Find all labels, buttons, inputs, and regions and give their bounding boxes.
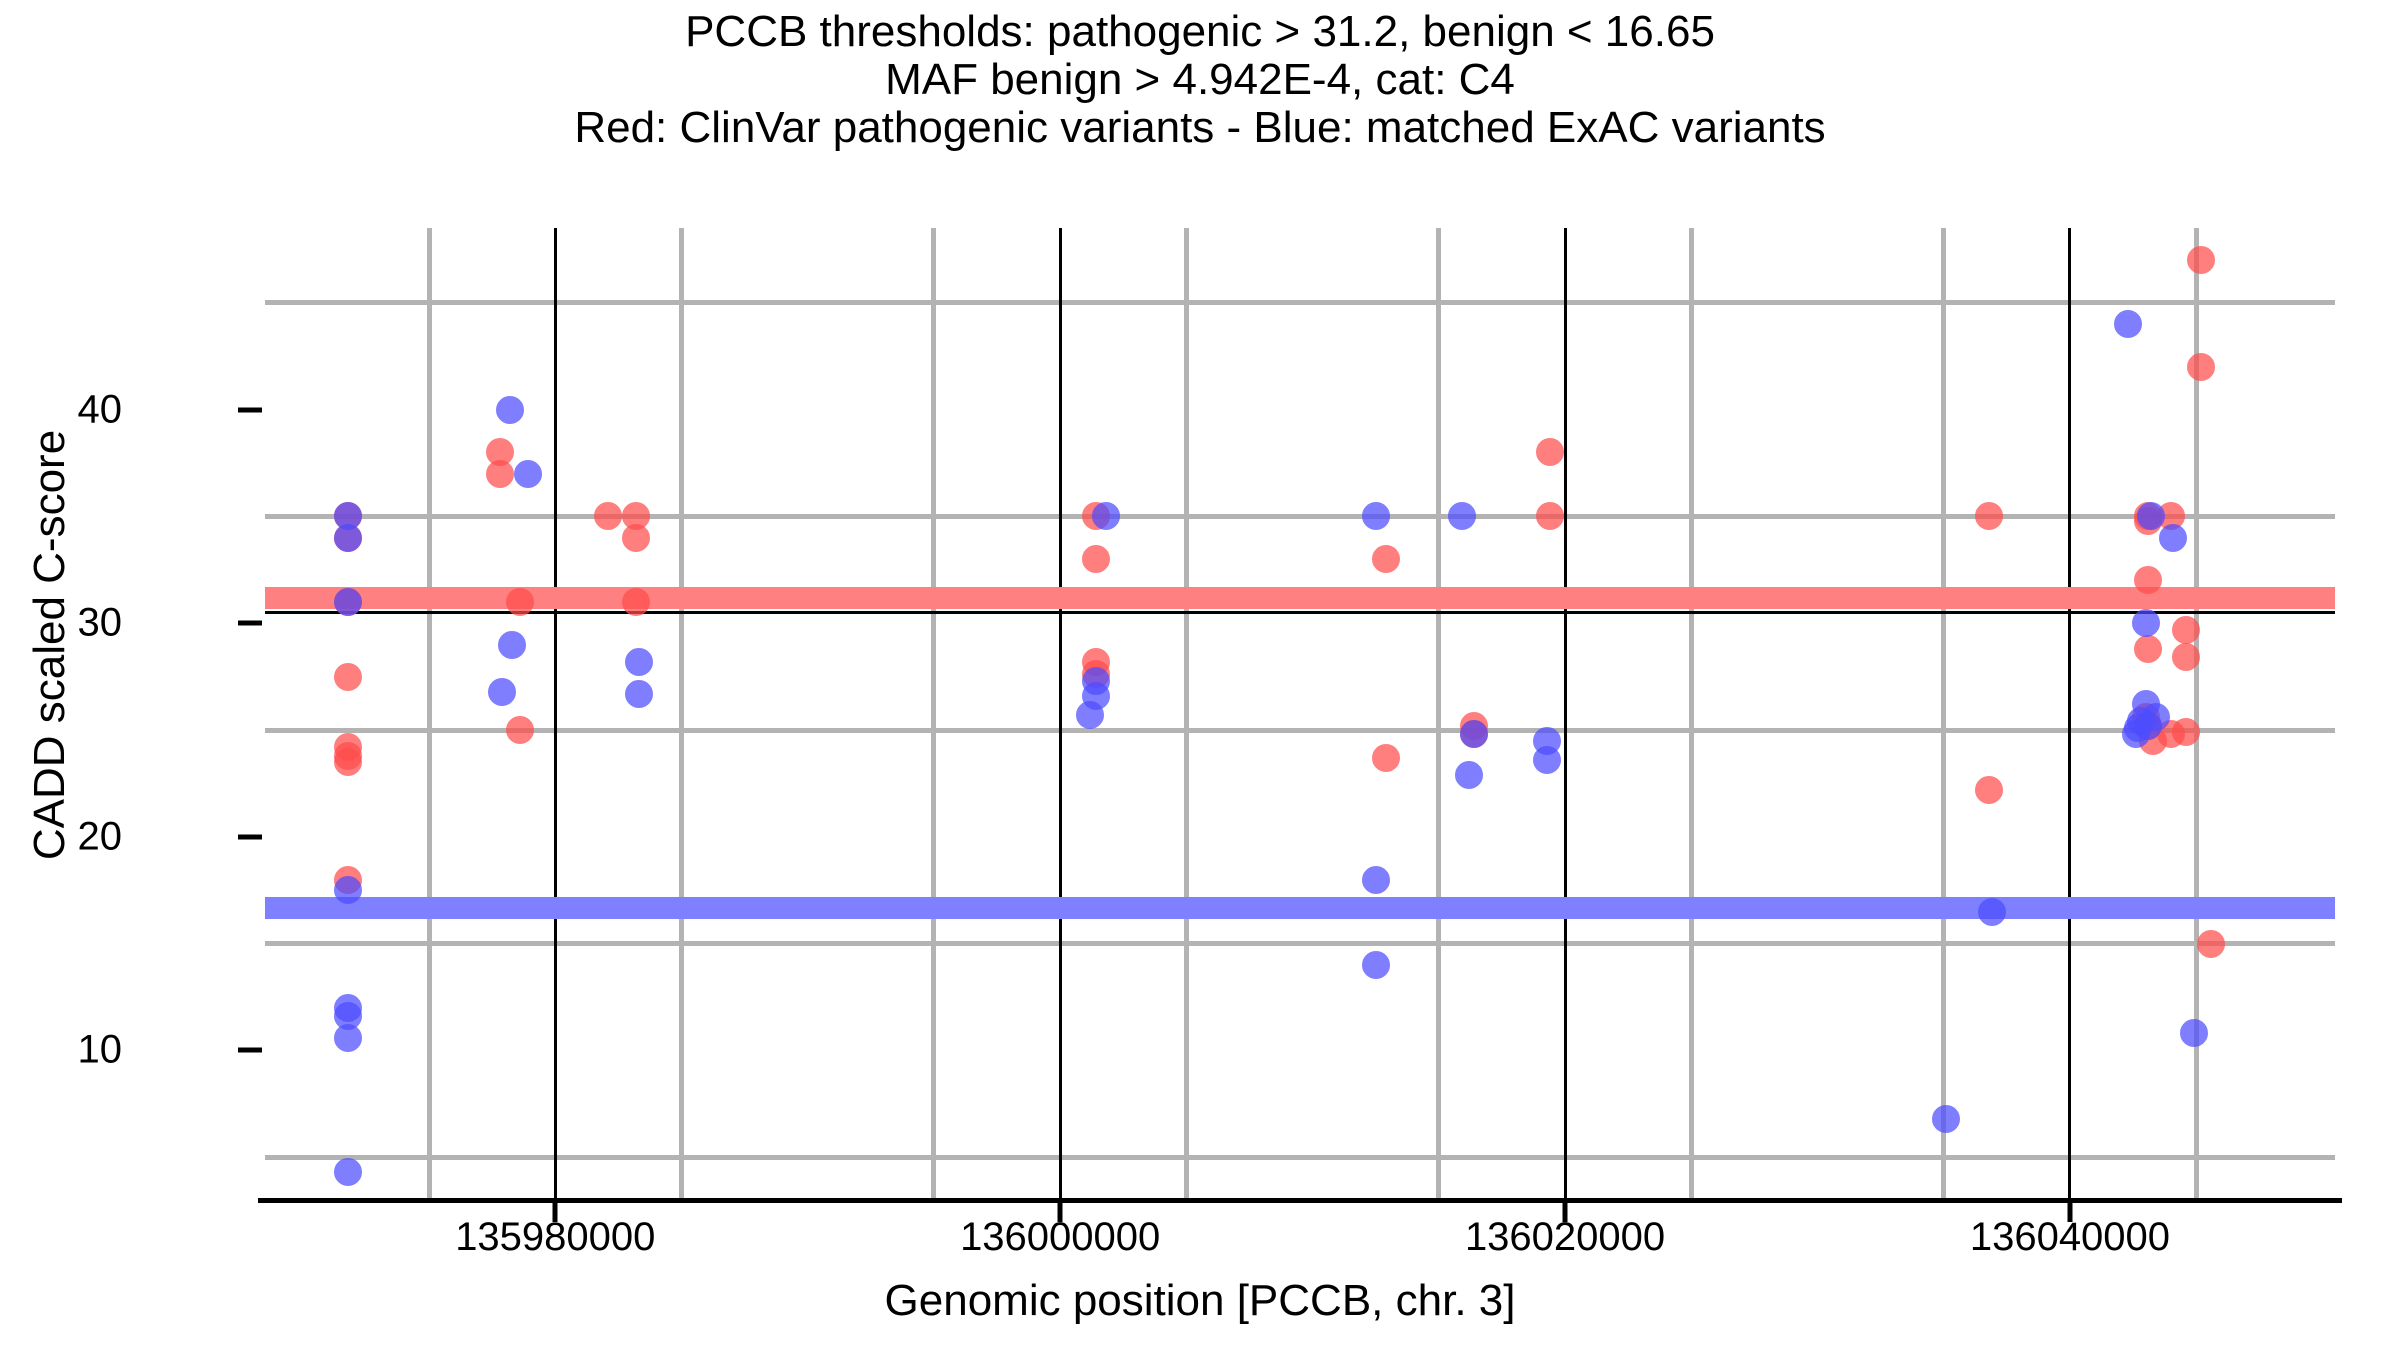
data-point-pathogenic [506,588,534,616]
data-point-benign [1362,951,1390,979]
data-point-pathogenic [2172,616,2200,644]
data-point-benign [334,588,362,616]
data-point-pathogenic [1372,545,1400,573]
pathogenic-threshold-line [265,611,2335,614]
chart-title-block: PCCB thresholds: pathogenic > 31.2, beni… [0,8,2400,152]
data-point-benign [1448,502,1476,530]
gridline-vertical-major [2068,228,2071,1200]
gridline-horizontal [265,300,2335,305]
x-tick-label: 136040000 [1970,1215,2170,1260]
data-point-benign [2114,310,2142,338]
data-point-pathogenic [1536,438,1564,466]
data-point-pathogenic [486,460,514,488]
data-point-benign [2159,524,2187,552]
data-point-pathogenic [622,524,650,552]
data-point-benign [1460,720,1488,748]
data-point-pathogenic [622,588,650,616]
y-tick-mark [238,834,262,839]
data-point-pathogenic [1372,744,1400,772]
data-point-pathogenic [334,663,362,691]
data-point-benign [496,396,524,424]
data-point-pathogenic [1082,545,1110,573]
data-point-pathogenic [2134,635,2162,663]
data-point-benign [2137,502,2165,530]
x-tick-label: 136000000 [960,1215,1160,1260]
y-tick-mark [238,407,262,412]
gridline-horizontal [265,514,2335,519]
x-tick-label: 136020000 [1465,1215,1665,1260]
data-point-benign [1092,502,1120,530]
gridline-horizontal [265,728,2335,733]
gridline-vertical-major [554,228,557,1200]
data-point-benign [488,678,516,706]
chart-root: PCCB thresholds: pathogenic > 31.2, beni… [0,0,2400,1350]
data-point-benign [2180,1019,2208,1047]
pathogenic-threshold-band [265,587,2335,609]
y-axis-title: CADD scaled C-score [25,295,75,995]
data-point-pathogenic [1975,776,2003,804]
data-point-pathogenic [2197,930,2225,958]
y-tick-mark [238,1048,262,1053]
data-point-benign [625,648,653,676]
gridline-horizontal [265,1155,2335,1160]
gridline-horizontal [265,941,2335,946]
data-point-benign [625,680,653,708]
gridline-vertical-major [1564,228,1567,1200]
data-point-benign [1455,761,1483,789]
data-point-pathogenic [2187,353,2215,381]
data-point-benign [2132,609,2160,637]
data-point-pathogenic [506,716,534,744]
gridline-vertical [1941,228,1946,1200]
data-point-benign [1978,898,2006,926]
gridline-vertical [1689,228,1694,1200]
gridline-vertical-major [1059,228,1062,1200]
y-tick-mark [238,621,262,626]
x-axis-title: Genomic position [PCCB, chr. 3] [0,1276,2400,1326]
data-point-benign [334,1158,362,1186]
data-point-pathogenic [2187,246,2215,274]
gridline-vertical [679,228,684,1200]
data-point-pathogenic [1975,502,2003,530]
x-tick-label: 135980000 [455,1215,655,1260]
chart-title-line-3: Red: ClinVar pathogenic variants - Blue:… [0,104,2400,152]
data-point-benign [1533,746,1561,774]
data-point-benign [1362,502,1390,530]
data-point-benign [334,524,362,552]
data-point-benign [514,460,542,488]
data-point-benign [2142,703,2170,731]
data-point-benign [1076,701,1104,729]
data-point-benign [1932,1105,1960,1133]
data-point-benign [1362,866,1390,894]
gridline-vertical [1184,228,1189,1200]
chart-title-line-1: PCCB thresholds: pathogenic > 31.2, beni… [0,8,2400,56]
chart-title-line-2: MAF benign > 4.942E-4, cat: C4 [0,56,2400,104]
data-point-pathogenic [334,748,362,776]
data-point-benign [498,631,526,659]
benign-threshold-band [265,897,2335,919]
plot-area [265,228,2335,1200]
data-point-pathogenic [594,502,622,530]
y-tick-label: 10 [2,1028,122,1073]
gridline-vertical [1436,228,1441,1200]
gridline-vertical [427,228,432,1200]
data-point-benign [334,1024,362,1052]
data-point-pathogenic [1536,502,1564,530]
gridline-vertical [931,228,936,1200]
x-axis-line [258,1198,2342,1203]
